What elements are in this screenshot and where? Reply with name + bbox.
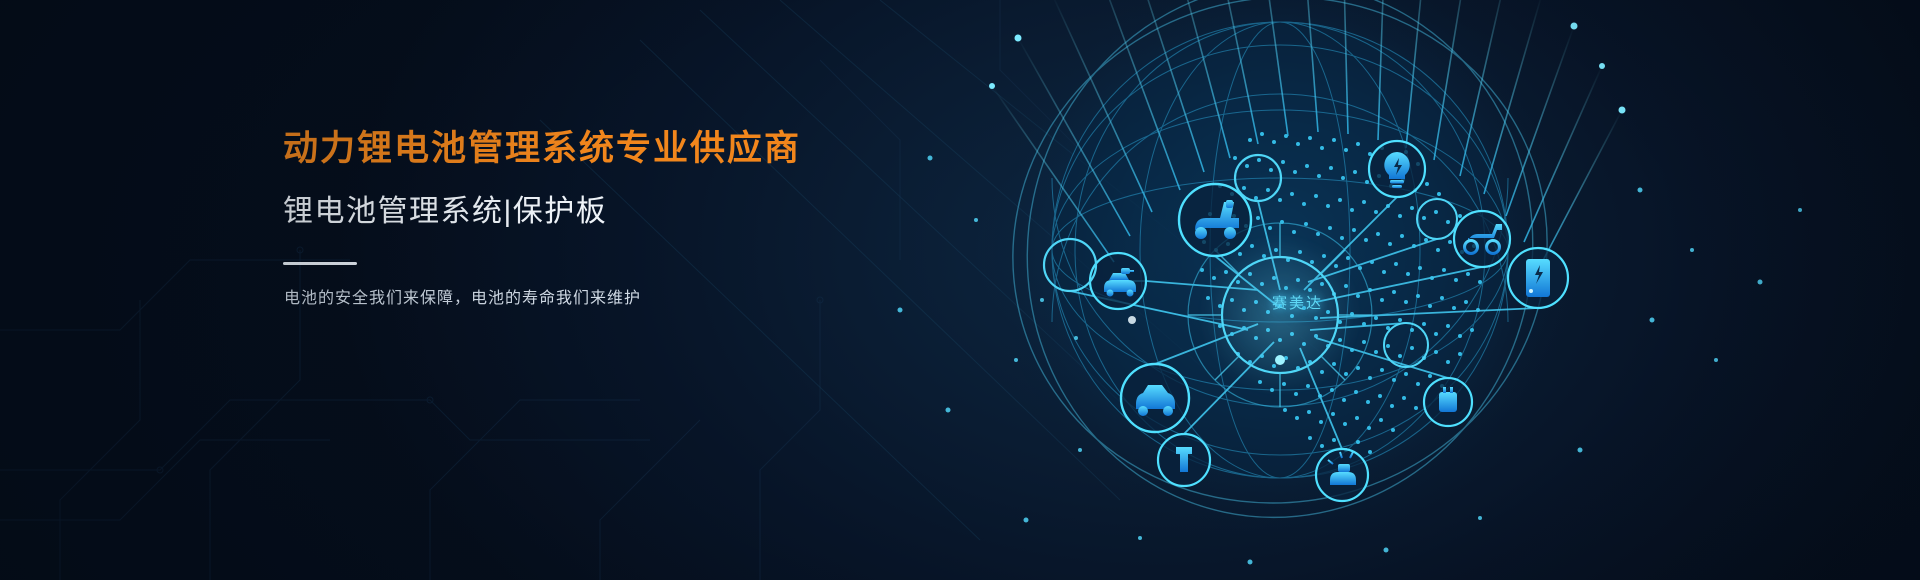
hero-banner: 动力锂电池管理系统专业供应商 锂电池管理系统|保护板 电池的安全我们来保障，电池… [0, 0, 1920, 580]
motorcycle-node[interactable] [1454, 211, 1510, 267]
light-bulb-node[interactable] [1369, 141, 1425, 197]
globe-svg [780, 0, 1920, 580]
flashlight-node[interactable] [1158, 434, 1210, 486]
battery-pack-node[interactable] [1508, 248, 1568, 308]
scooter-node[interactable] [1179, 184, 1251, 256]
divider [283, 262, 357, 265]
network-globe-graphic: 赛美达 [780, 0, 1920, 580]
car-node[interactable] [1121, 364, 1189, 432]
charger-node[interactable] [1424, 378, 1472, 426]
battery-pack-icon [1526, 259, 1550, 297]
ev-charging-node[interactable] [1090, 253, 1146, 309]
power-tool-node[interactable] [1316, 449, 1368, 501]
